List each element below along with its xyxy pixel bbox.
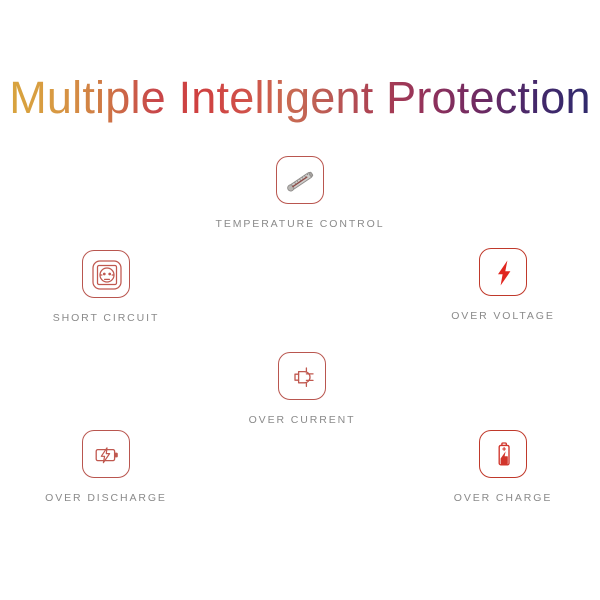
lightning-bolt-icon	[479, 248, 527, 296]
battery-horizontal-bolt-icon	[82, 430, 130, 478]
power-socket-icon	[82, 250, 130, 298]
feature-over-discharge[interactable]: OVER DISCHARGE	[6, 430, 206, 504]
feature-over-voltage[interactable]: OVER VOLTAGE	[403, 248, 600, 322]
thermometer-icon	[276, 156, 324, 204]
feature-over-current[interactable]: OVER CURRENT	[202, 352, 402, 426]
feature-over-charge[interactable]: OVER CHARGE	[403, 430, 600, 504]
feature-label-over-discharge: OVER DISCHARGE	[6, 492, 206, 504]
infographic-page: Multiple Intelligent Protection	[0, 0, 600, 600]
battery-vertical-bolt-icon	[479, 430, 527, 478]
feature-label-short-circuit: SHORT CIRCUIT	[6, 312, 206, 324]
feature-temperature-control[interactable]: TEMPERATURE CONTROL	[200, 156, 400, 230]
power-plug-icon	[278, 352, 326, 400]
feature-short-circuit[interactable]: SHORT CIRCUIT	[6, 250, 206, 324]
feature-label-over-current: OVER CURRENT	[202, 414, 402, 426]
page-title: Multiple Intelligent Protection	[0, 72, 600, 124]
feature-label-temperature-control: TEMPERATURE CONTROL	[200, 218, 400, 230]
feature-label-over-voltage: OVER VOLTAGE	[403, 310, 600, 322]
feature-label-over-charge: OVER CHARGE	[403, 492, 600, 504]
